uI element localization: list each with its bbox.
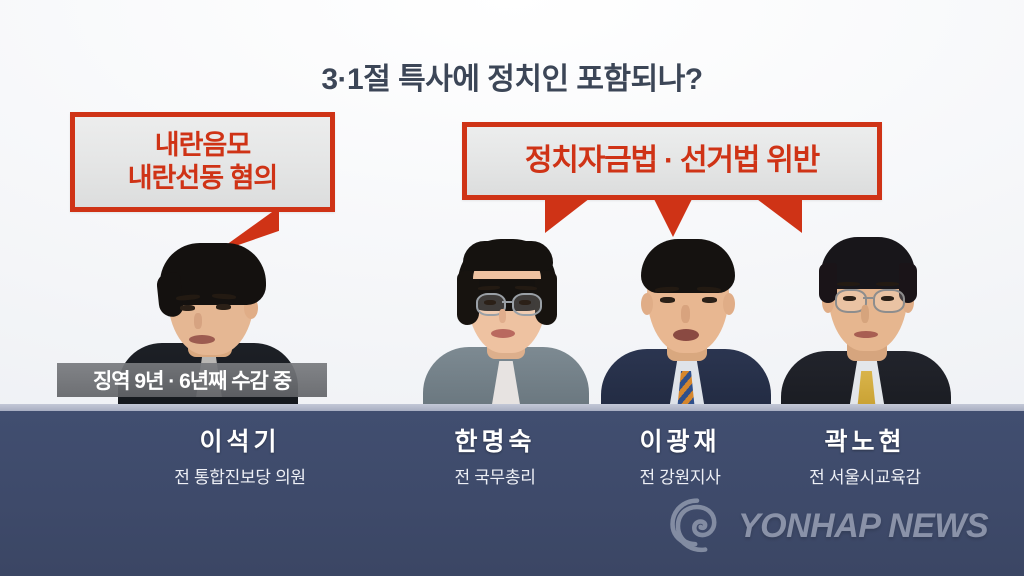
person-name-1: 이석기 <box>130 422 350 458</box>
yonhap-swirl-logo-icon <box>668 497 726 555</box>
infographic-canvas: 3·1절 특사에 정치인 포함되나? 내란음모 내란선동 혐의 정치자금법 · … <box>0 0 1024 576</box>
callout-right-tail1-icon <box>545 195 615 233</box>
callout-left-line1: 내란음모 <box>128 129 278 162</box>
callout-left-charges: 내란음모 내란선동 혐의 <box>70 112 335 212</box>
name-cell-2: 한명숙 전 국무총리 <box>395 422 595 488</box>
band-divider <box>0 404 1024 411</box>
callout-right-tail2-icon <box>652 195 694 237</box>
name-cell-1: 이석기 전 통합진보당 의원 <box>130 422 350 488</box>
page-title: 3·1절 특사에 정치인 포함되나? <box>0 54 1024 98</box>
person-role-2: 전 국무총리 <box>395 463 595 488</box>
watermark: YONHAP NEWS <box>668 497 988 555</box>
callout-right-tail3-icon <box>730 195 802 233</box>
person-role-1: 전 통합진보당 의원 <box>130 463 350 488</box>
callout-right-text: 정치자금법 · 선거법 위반 <box>525 143 819 180</box>
person-name-2: 한명숙 <box>395 422 595 458</box>
person-role-4: 전 서울시교육감 <box>760 463 970 488</box>
name-cell-3: 이광재 전 강원지사 <box>580 422 780 488</box>
callout-left-line2: 내란선동 혐의 <box>128 162 278 195</box>
watermark-text: YONHAP NEWS <box>738 507 988 546</box>
portrait-photo-3 <box>605 235 765 410</box>
person-name-3: 이광재 <box>580 422 780 458</box>
callout-right-charges: 정치자금법 · 선거법 위반 <box>462 122 882 200</box>
person-role-3: 전 강원지사 <box>580 463 780 488</box>
portrait-photo-2 <box>425 235 585 410</box>
portrait-photo-4 <box>785 235 945 410</box>
name-cell-4: 곽노현 전 서울시교육감 <box>760 422 970 488</box>
person-name-4: 곽노현 <box>760 422 970 458</box>
status-badge-sentence: 징역 9년 · 6년째 수감 중 <box>57 363 327 397</box>
